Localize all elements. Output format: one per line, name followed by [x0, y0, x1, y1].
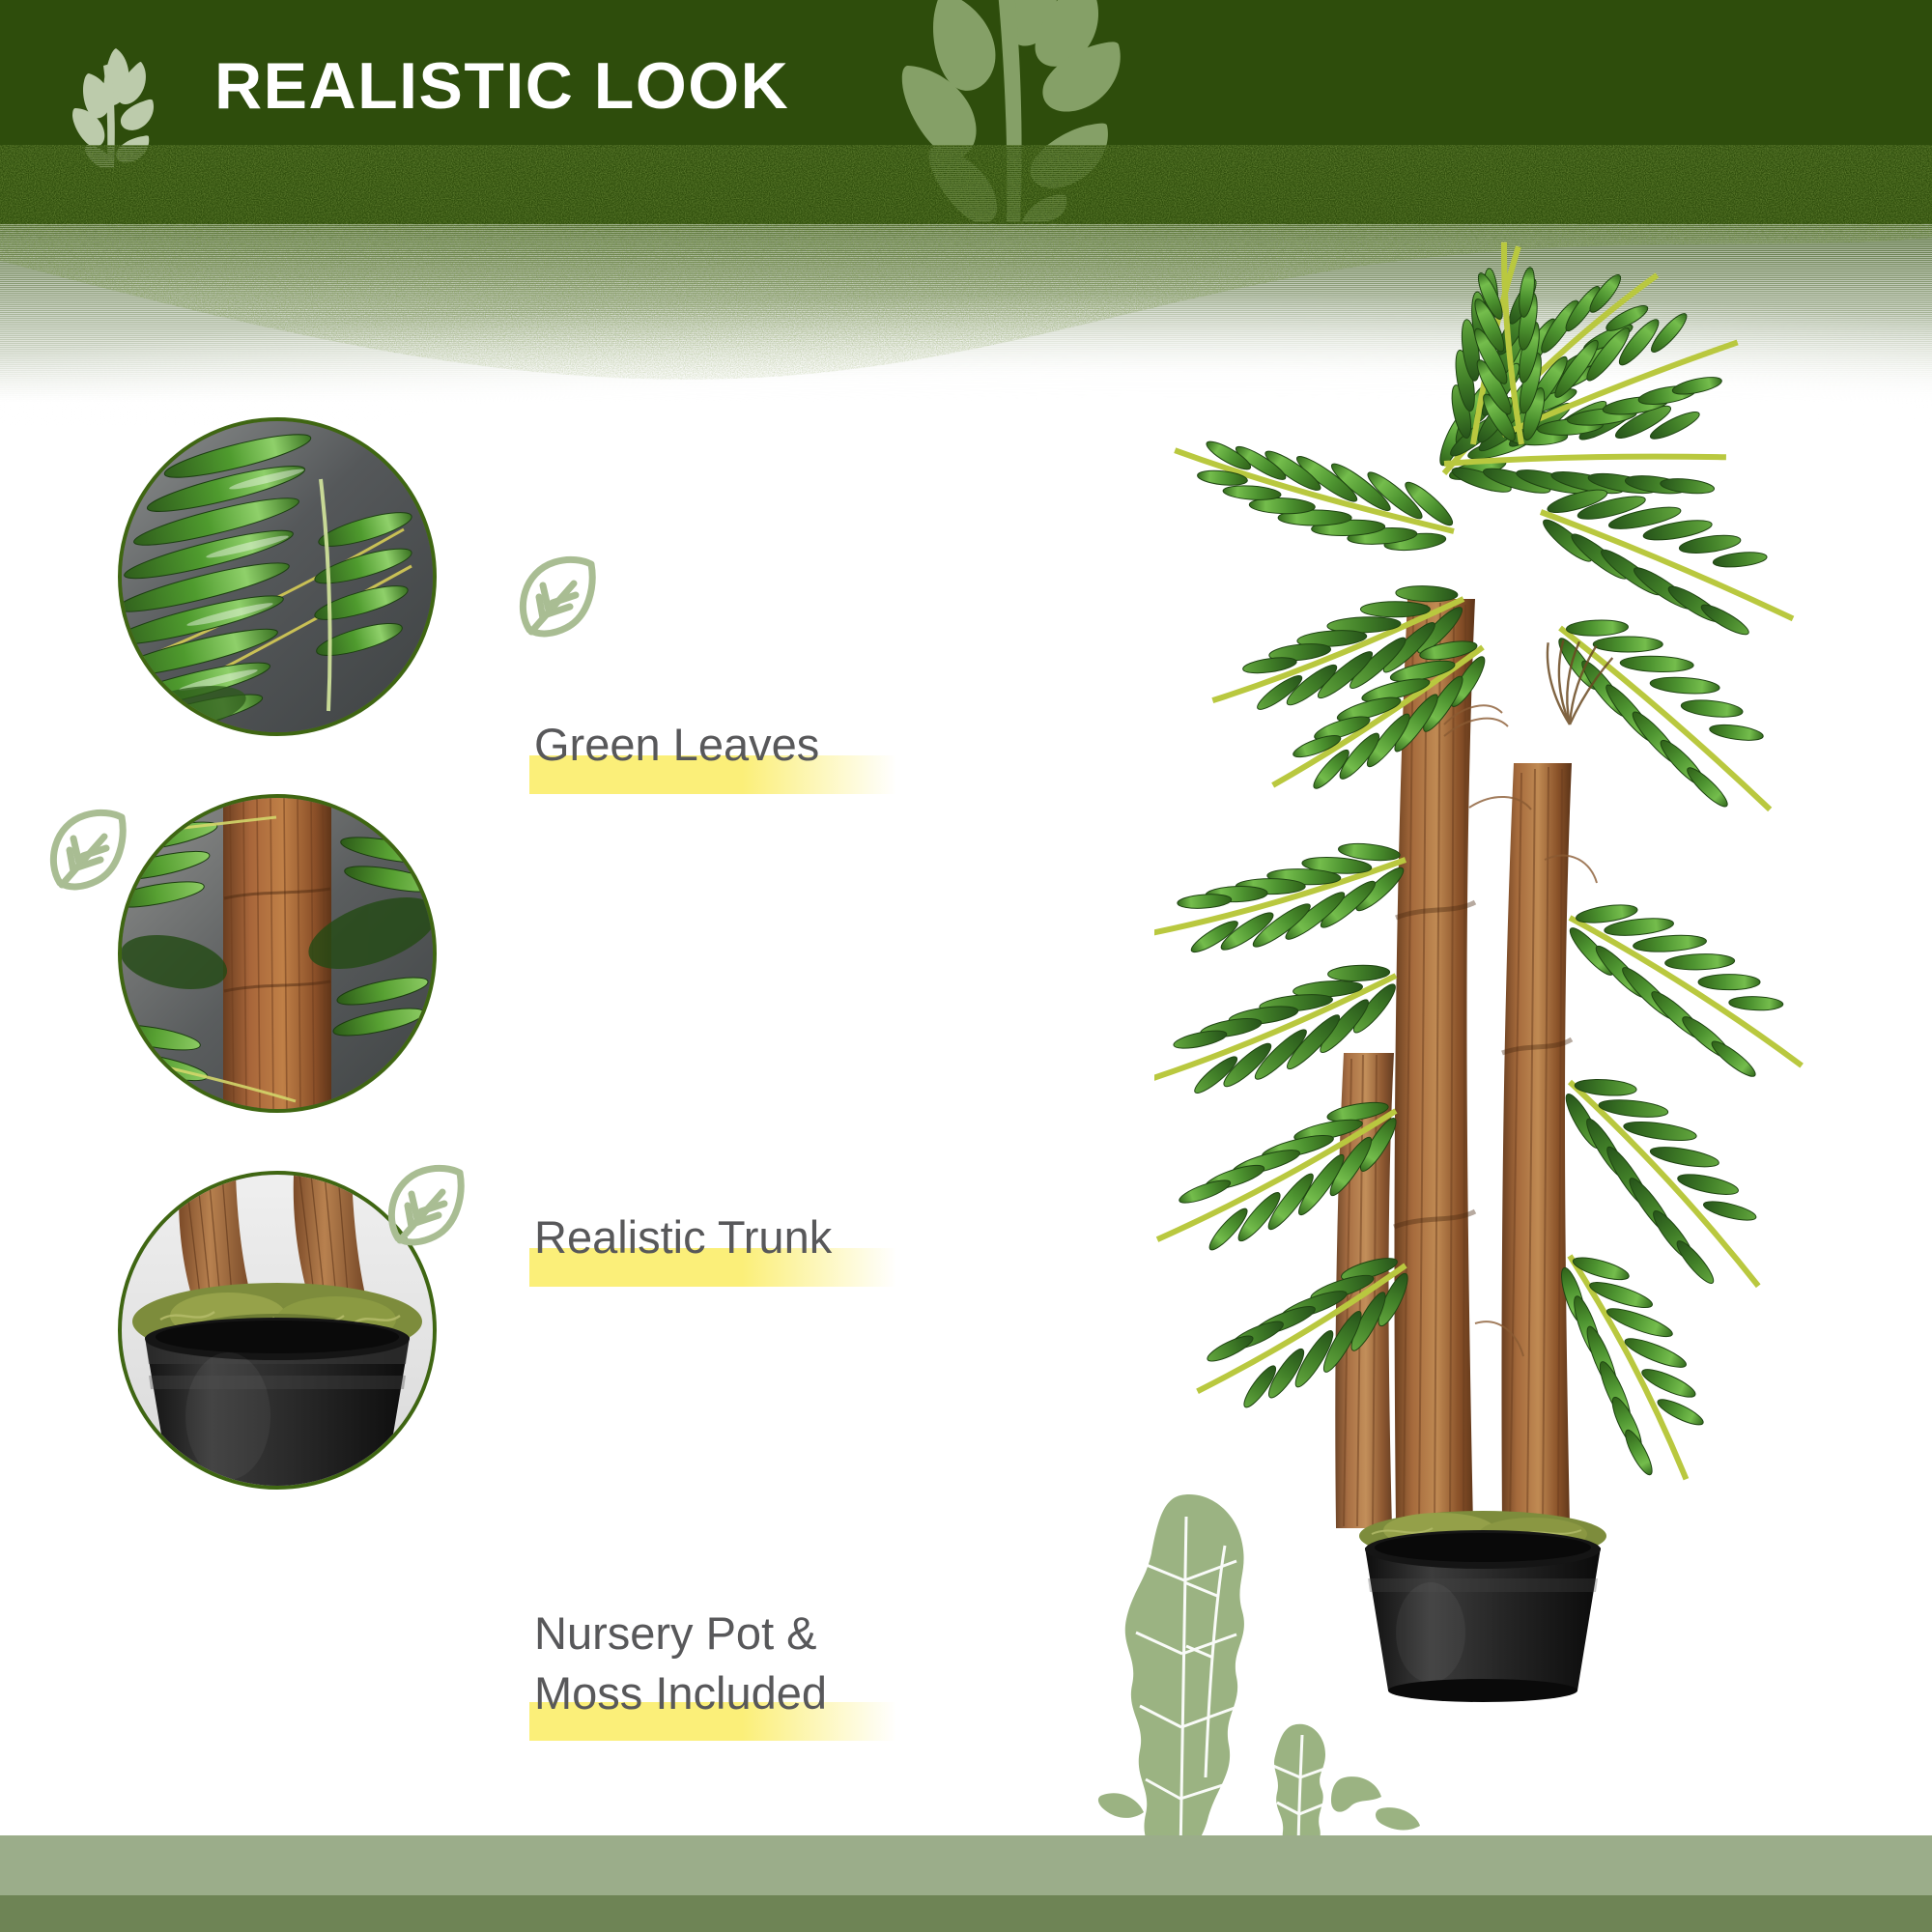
trunk-closeup-image [122, 798, 433, 1109]
bottom-bar-dark [0, 1895, 1932, 1932]
outline-leaf-icon [41, 804, 133, 896]
page-title: REALISTIC LOOK [214, 53, 789, 119]
feature-label-green-leaves: Green Leaves [534, 715, 1037, 775]
feature-label-nursery-pot: Nursery Pot & Moss Included [534, 1604, 1075, 1723]
feature-photo-realistic-trunk [118, 794, 437, 1113]
feature-label-realistic-trunk: Realistic Trunk [534, 1207, 1037, 1267]
product-feature-graphic: REALISTIC LOOK [0, 0, 1932, 1932]
bottom-bar-light [0, 1835, 1932, 1895]
feature-photo-green-leaves [118, 417, 437, 736]
product-image-artificial-fern-tree [1154, 184, 1932, 1855]
fern-frond-closeup-image [122, 421, 433, 732]
outline-leaf-icon [510, 551, 603, 643]
outline-leaf-icon [379, 1159, 471, 1252]
